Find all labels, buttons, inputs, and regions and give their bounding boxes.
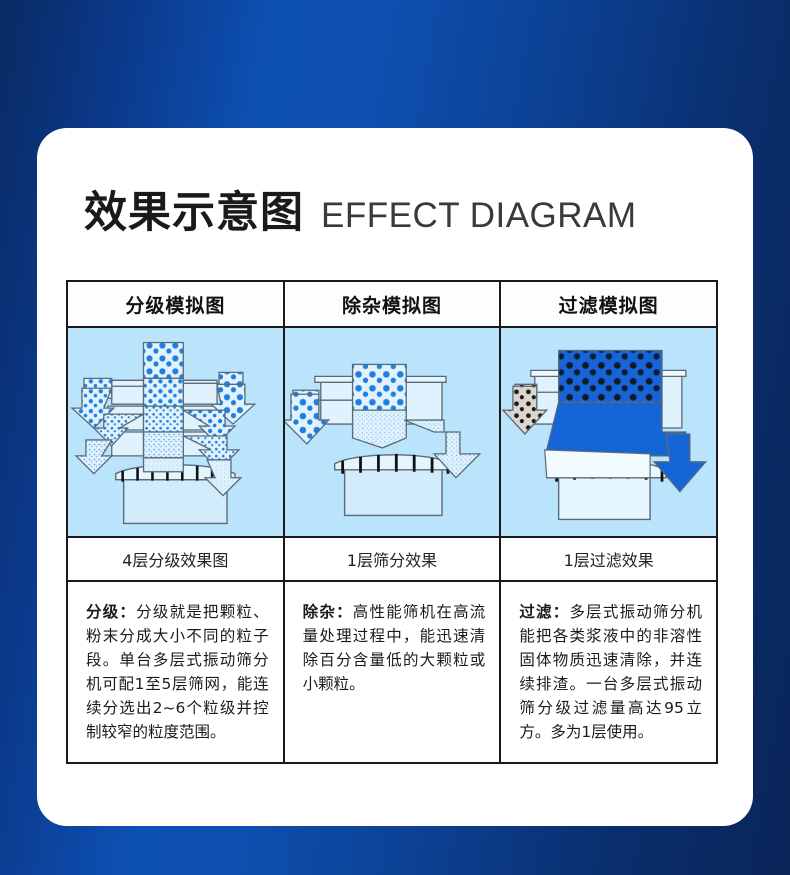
description-text: 分级：分级就是把颗粒、粉末分成大小不同的粒子段。单台多层式振动筛分机可配1至5层…: [86, 600, 269, 744]
page-background: 效果示意图 EFFECT DIAGRAM 分级模拟图 除杂模拟图 过滤模拟图: [0, 0, 790, 875]
diagram-cell-filter: [500, 327, 717, 537]
description-text: 过滤：多层式振动筛分机能把各类浆液中的非溶性固体物质迅速清除，并连续排渣。一台多…: [519, 600, 702, 744]
content-card: 效果示意图 EFFECT DIAGRAM 分级模拟图 除杂模拟图 过滤模拟图: [37, 128, 753, 826]
diagram-cell-classify: [67, 327, 284, 537]
caption-cell-impurity: 1层筛分效果: [284, 537, 501, 581]
header-label: 过滤模拟图: [559, 295, 659, 317]
description-cell-filter: 过滤：多层式振动筛分机能把各类浆液中的非溶性固体物质迅速清除，并连续排渣。一台多…: [500, 581, 717, 763]
table-header-classify: 分级模拟图: [67, 281, 284, 327]
single-layer-filter-diagram: [501, 328, 716, 536]
caption-cell-classify: 4层分级效果图: [67, 537, 284, 581]
caption-label: 1层过滤效果: [564, 551, 654, 570]
table-header-row: 分级模拟图 除杂模拟图 过滤模拟图: [67, 281, 717, 327]
description-text: 除杂：高性能筛机在高流量处理过程中，能迅速清除百分含量低的大颗粒或小颗粒。: [303, 600, 486, 696]
header-label: 分级模拟图: [125, 295, 225, 317]
caption-cell-filter: 1层过滤效果: [500, 537, 717, 581]
description-label: 过滤：: [519, 603, 569, 621]
multi-layer-classifier-diagram: [68, 328, 283, 536]
table-header-filter: 过滤模拟图: [500, 281, 717, 327]
description-body: 分级就是把颗粒、粉末分成大小不同的粒子段。单台多层式振动筛分机可配1至5层筛网，…: [86, 603, 269, 741]
description-label: 分级：: [86, 603, 136, 621]
table-header-impurity: 除杂模拟图: [284, 281, 501, 327]
page-title-en: EFFECT DIAGRAM: [321, 196, 637, 236]
caption-label: 1层筛分效果: [347, 551, 437, 570]
description-cell-impurity: 除杂：高性能筛机在高流量处理过程中，能迅速清除百分含量低的大颗粒或小颗粒。: [284, 581, 501, 763]
description-body: 多层式振动筛分机能把各类浆液中的非溶性固体物质迅速清除，并连续排渣。一台多层式振…: [519, 603, 702, 741]
header-label: 除杂模拟图: [342, 295, 442, 317]
caption-label: 4层分级效果图: [122, 551, 228, 570]
description-label: 除杂：: [303, 603, 353, 621]
effect-diagram-table: 分级模拟图 除杂模拟图 过滤模拟图: [66, 280, 718, 764]
table-diagram-row: [67, 327, 717, 537]
diagram-cell-impurity: [284, 327, 501, 537]
description-cell-classify: 分级：分级就是把颗粒、粉末分成大小不同的粒子段。单台多层式振动筛分机可配1至5层…: [67, 581, 284, 763]
table-caption-row: 4层分级效果图 1层筛分效果 1层过滤效果: [67, 537, 717, 581]
single-layer-screening-diagram: [285, 328, 500, 536]
page-title: 效果示意图 EFFECT DIAGRAM: [84, 178, 637, 240]
table-description-row: 分级：分级就是把颗粒、粉末分成大小不同的粒子段。单台多层式振动筛分机可配1至5层…: [67, 581, 717, 763]
page-title-cn: 效果示意图: [84, 178, 304, 240]
